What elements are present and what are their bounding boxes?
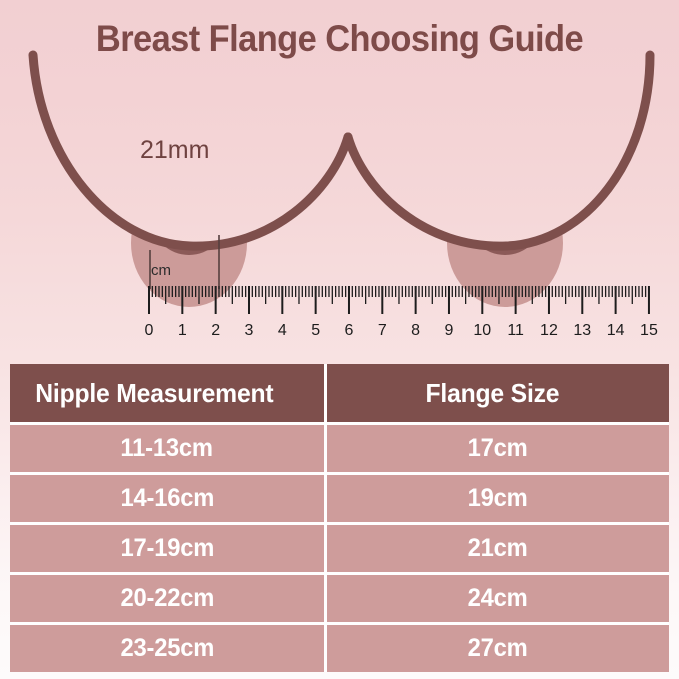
cell-flange-size: 19cm bbox=[327, 475, 669, 522]
header-cell-nipple-measurement: Nipple Measurement bbox=[10, 364, 327, 422]
header-label: Nipple Measurement bbox=[35, 378, 273, 409]
ruler-number-label: 1 bbox=[178, 322, 187, 339]
ruler-number-label: 3 bbox=[245, 322, 254, 339]
ruler-number-label: 14 bbox=[607, 322, 625, 339]
cell-nipple-measurement: 17-19cm bbox=[10, 525, 327, 572]
ruler-number-label: 7 bbox=[378, 322, 387, 339]
cell-nipple-measurement: 14-16cm bbox=[10, 475, 327, 522]
cell-label: 24cm bbox=[468, 584, 528, 613]
cell-flange-size: 24cm bbox=[327, 575, 669, 622]
cell-label: 17cm bbox=[468, 434, 528, 463]
cell-label: 23-25cm bbox=[120, 634, 214, 663]
ruler-number-label: 5 bbox=[311, 322, 320, 339]
cell-nipple-measurement: 11-13cm bbox=[10, 425, 327, 472]
cell-label: 20-22cm bbox=[120, 584, 214, 613]
cell-label: 19cm bbox=[468, 484, 528, 513]
ruler-number-label: 13 bbox=[573, 322, 591, 339]
table-row: 17-19cm 21cm bbox=[10, 522, 669, 572]
cell-label: 14-16cm bbox=[120, 484, 214, 513]
ruler-number-label: 15 bbox=[640, 322, 658, 339]
right-breast-outline bbox=[348, 55, 650, 246]
cell-flange-size: 27cm bbox=[327, 625, 669, 672]
breast-illustration: 0123456789101112131415 bbox=[0, 0, 679, 350]
ruler-number-label: 0 bbox=[145, 322, 154, 339]
ruler-number-label: 2 bbox=[211, 322, 220, 339]
cell-label: 11-13cm bbox=[121, 434, 213, 463]
table-row: 23-25cm 27cm bbox=[10, 622, 669, 672]
infographic-root: Breast Flange Choosing Guide 0123 bbox=[0, 0, 679, 679]
ruler-number-labels: 0123456789101112131415 bbox=[145, 322, 658, 339]
flange-size-table: Nipple Measurement Flange Size 11-13cm 1… bbox=[10, 364, 669, 672]
ruler-number-label: 10 bbox=[473, 322, 491, 339]
ruler-unit-label: cm bbox=[151, 262, 171, 279]
cell-flange-size: 21cm bbox=[327, 525, 669, 572]
ruler-number-label: 6 bbox=[345, 322, 354, 339]
table-header-row: Nipple Measurement Flange Size bbox=[10, 364, 669, 422]
header-label: Flange Size bbox=[426, 378, 560, 409]
cell-nipple-measurement: 20-22cm bbox=[10, 575, 327, 622]
ruler-number-label: 11 bbox=[507, 322, 524, 339]
header-cell-flange-size: Flange Size bbox=[327, 364, 669, 422]
cell-flange-size: 17cm bbox=[327, 425, 669, 472]
cell-label: 21cm bbox=[468, 534, 528, 563]
cell-label: 17-19cm bbox=[120, 534, 214, 563]
table-row: 11-13cm 17cm bbox=[10, 422, 669, 472]
table-row: 14-16cm 19cm bbox=[10, 472, 669, 522]
cell-label: 27cm bbox=[468, 634, 528, 663]
ruler-number-label: 8 bbox=[411, 322, 420, 339]
cell-nipple-measurement: 23-25cm bbox=[10, 625, 327, 672]
ruler-number-label: 12 bbox=[540, 322, 558, 339]
table-row: 20-22cm 24cm bbox=[10, 572, 669, 622]
ruler-number-label: 4 bbox=[278, 322, 287, 339]
ruler-number-label: 9 bbox=[445, 322, 454, 339]
nipple-measurement-callout: 21mm bbox=[140, 136, 209, 165]
